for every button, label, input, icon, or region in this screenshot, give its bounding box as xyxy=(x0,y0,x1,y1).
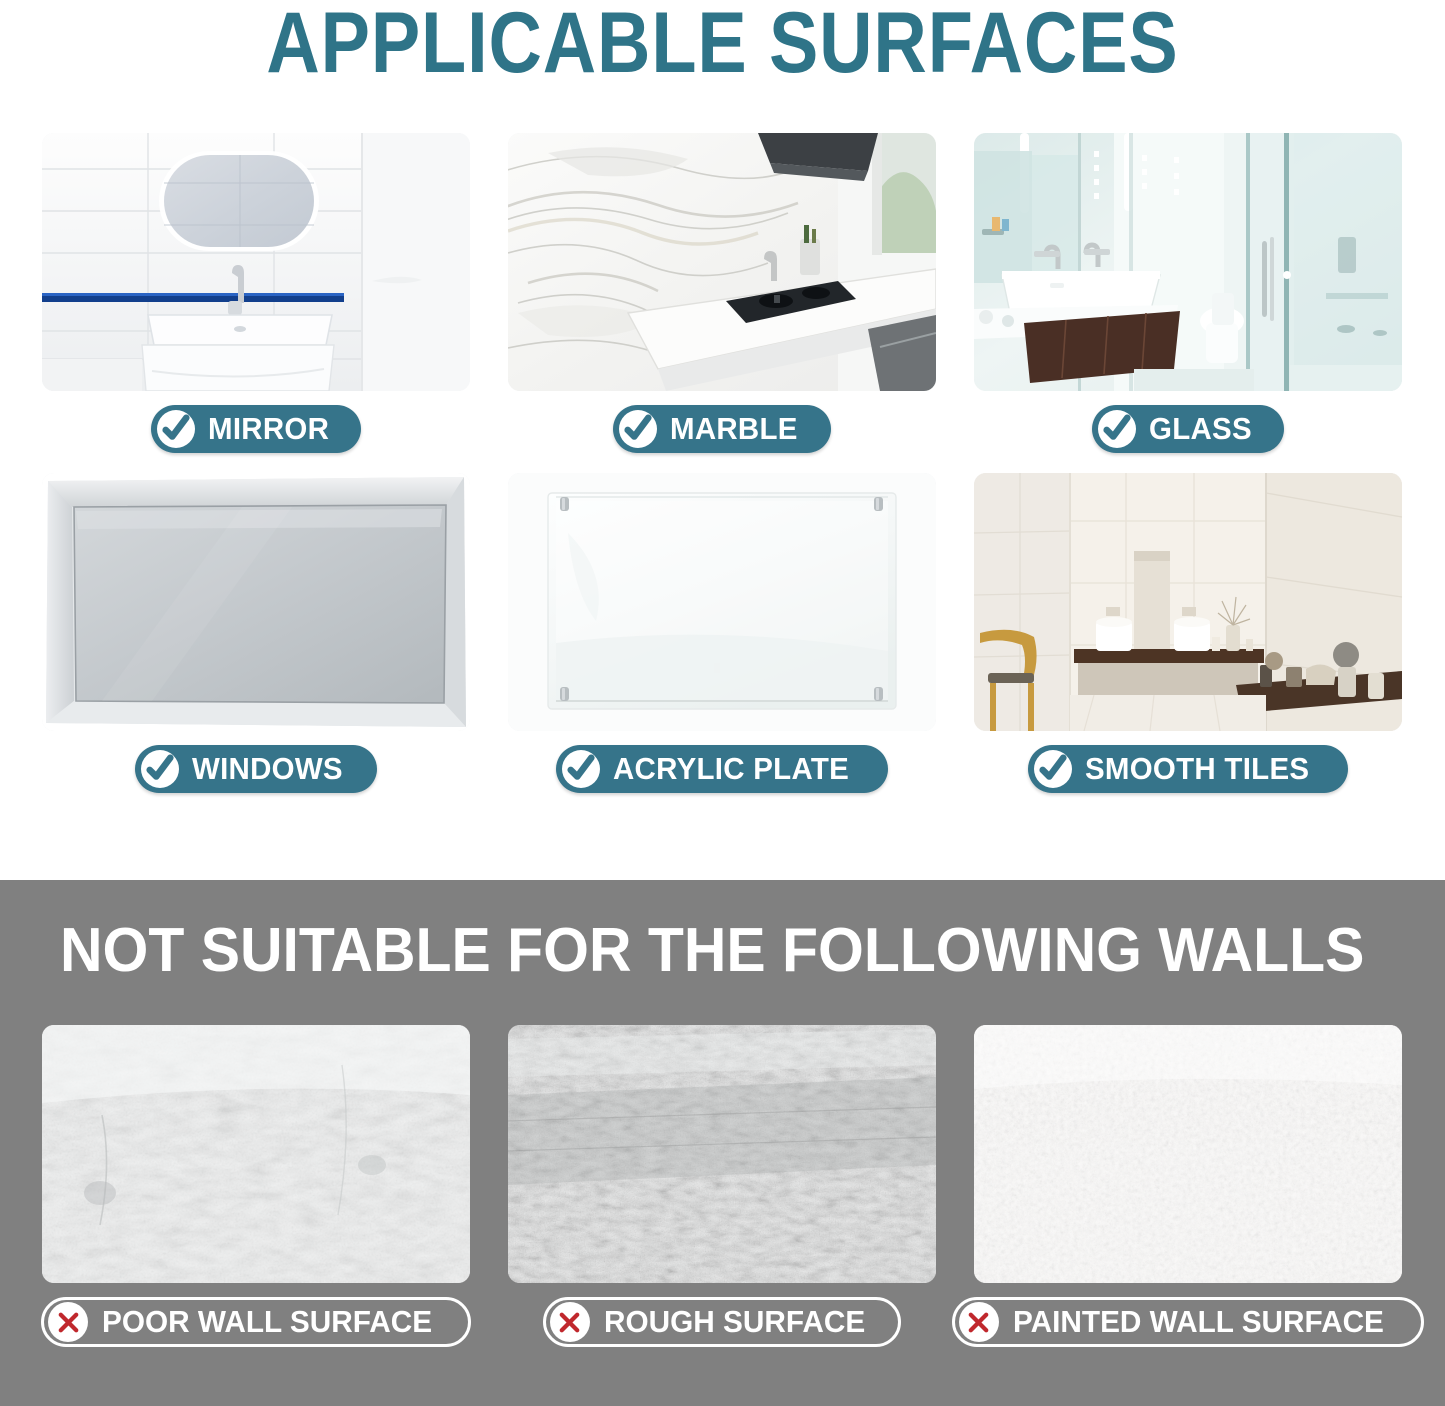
badge-marble[interactable]: MARBLE xyxy=(613,405,830,453)
badge-label: GLASS xyxy=(1149,411,1252,447)
not-suitable-item-painted: PAINTED WALL SURFACE xyxy=(974,1025,1402,1347)
rough-mottled-concrete-texture xyxy=(508,1025,936,1283)
check-icon xyxy=(157,410,195,448)
beige-smooth-tile-bathroom-photo xyxy=(974,473,1402,731)
badge-row-glass: GLASS xyxy=(974,405,1402,453)
badge-row-poor-wall: POOR WALL SURFACE xyxy=(42,1297,470,1347)
check-icon xyxy=(562,750,600,788)
badge-acrylic-plate[interactable]: ACRYLIC PLATE xyxy=(556,745,887,793)
page-title: APPLICABLE SURFACES xyxy=(101,0,1344,88)
not-suitable-grid: POOR WALL SURFACE xyxy=(42,1025,1404,1347)
badge-label: ACRYLIC PLATE xyxy=(613,751,849,787)
badge-painted-wall-surface[interactable]: PAINTED WALL SURFACE xyxy=(952,1297,1424,1347)
applicable-item-smooth-tiles: SMOOTH TILES xyxy=(974,473,1402,793)
badge-row-mirror: MIRROR xyxy=(42,405,470,453)
check-icon xyxy=(141,750,179,788)
not-suitable-item-rough: ROUGH SURFACE xyxy=(508,1025,936,1347)
badge-smooth-tiles[interactable]: SMOOTH TILES xyxy=(1028,745,1347,793)
check-icon xyxy=(1098,410,1136,448)
badge-mirror[interactable]: MIRROR xyxy=(151,405,362,453)
badge-label: MIRROR xyxy=(208,411,329,447)
not-suitable-title: NOT SUITABLE FOR THE FOLLOWING WALLS xyxy=(60,915,1364,986)
applicable-item-marble: MARBLE xyxy=(508,133,936,453)
badge-row-painted: PAINTED WALL SURFACE xyxy=(974,1297,1402,1347)
badge-row-acrylic: ACRYLIC PLATE xyxy=(508,745,936,793)
check-icon xyxy=(619,410,657,448)
badge-rough-surface[interactable]: ROUGH SURFACE xyxy=(543,1297,901,1347)
not-suitable-section: NOT SUITABLE FOR THE FOLLOWING WALLS xyxy=(0,880,1445,1406)
applicable-item-mirror: MIRROR xyxy=(42,133,470,453)
badge-label: POOR WALL SURFACE xyxy=(102,1304,432,1340)
applicable-item-acrylic: ACRYLIC PLATE xyxy=(508,473,936,793)
applicable-surfaces-section: APPLICABLE SURFACES xyxy=(0,0,1445,880)
x-icon xyxy=(48,1302,88,1342)
badge-windows[interactable]: WINDOWS xyxy=(135,745,377,793)
badge-label: WINDOWS xyxy=(192,751,343,787)
badge-glass[interactable]: GLASS xyxy=(1092,405,1283,453)
applicable-row-1: MIRROR xyxy=(42,133,1404,453)
badge-label: ROUGH SURFACE xyxy=(604,1304,865,1340)
not-suitable-item-poor-wall: POOR WALL SURFACE xyxy=(42,1025,470,1347)
badge-label: MARBLE xyxy=(670,411,798,447)
infographic-root: APPLICABLE SURFACES xyxy=(0,0,1445,1406)
weathered-concrete-texture xyxy=(42,1025,470,1283)
badge-label: SMOOTH TILES xyxy=(1085,751,1309,787)
marble-kitchen-backsplash-photo xyxy=(508,133,936,391)
applicable-row-2: WINDOWS xyxy=(42,473,1404,793)
applicable-item-windows: WINDOWS xyxy=(42,473,470,793)
badge-row-rough: ROUGH SURFACE xyxy=(508,1297,936,1347)
badge-label: PAINTED WALL SURFACE xyxy=(1013,1304,1384,1340)
aluminium-framed-window-photo xyxy=(42,473,470,731)
badge-row-marble: MARBLE xyxy=(508,405,936,453)
x-icon xyxy=(550,1302,590,1342)
clear-acrylic-plate-photo xyxy=(508,473,936,731)
check-icon xyxy=(1034,750,1072,788)
badge-poor-wall-surface[interactable]: POOR WALL SURFACE xyxy=(41,1297,471,1347)
applicable-item-glass: GLASS xyxy=(974,133,1402,453)
badge-row-smooth-tiles: SMOOTH TILES xyxy=(974,745,1402,793)
x-icon xyxy=(959,1302,999,1342)
glass-walled-bathroom-photo xyxy=(974,133,1402,391)
not-suitable-row: POOR WALL SURFACE xyxy=(42,1025,1404,1347)
badge-row-windows: WINDOWS xyxy=(42,745,470,793)
bathroom-oval-mirror-photo xyxy=(42,133,470,391)
white-stucco-paint-texture xyxy=(974,1025,1402,1283)
applicable-grid: MIRROR xyxy=(42,133,1404,793)
